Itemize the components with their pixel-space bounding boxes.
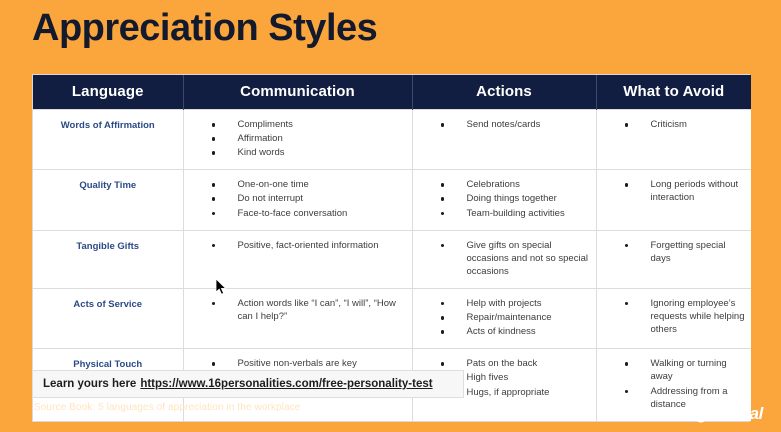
cell-actions: Send notes/cards	[412, 110, 596, 170]
cell-communication: Compliments Affirmation Kind words	[183, 110, 412, 170]
language-label: Physical Touch	[73, 359, 142, 370]
list-item: Compliments	[212, 118, 406, 131]
list-item: Affirmation	[212, 132, 406, 145]
language-label: Quality Time	[79, 180, 136, 191]
bullet-list: Criticism	[603, 118, 746, 131]
cell-actions: Celebrations Doing things together Team-…	[412, 170, 596, 230]
bullet-list: Give gifts on special occasions and not …	[419, 239, 590, 278]
row-language-acts-of-service: Acts of Service	[33, 288, 183, 348]
page-title: Appreciation Styles	[32, 8, 377, 50]
cell-communication: Action words like “I can”, “I will”, “Ho…	[183, 288, 412, 348]
list-item: One-on-one time	[212, 178, 406, 191]
table-row: Words of Affirmation Compliments Affirma…	[33, 110, 751, 170]
bullet-list: One-on-one time Do not interrupt Face-to…	[190, 178, 406, 219]
bullet-list: Send notes/cards	[419, 118, 590, 131]
column-header-actions: Actions	[412, 75, 596, 110]
list-item: Ignoring employee’s requests while helpi…	[625, 297, 746, 336]
row-language-quality-time: Quality Time	[33, 170, 183, 230]
column-header-language: Language	[33, 75, 183, 110]
list-item: Do not interrupt	[212, 192, 406, 205]
table-row: Quality Time One-on-one time Do not inte…	[33, 170, 751, 230]
source-note: Source Book: 5 languages of appreciation…	[34, 402, 300, 413]
row-language-words-of-affirmation: Words of Affirmation	[33, 110, 183, 170]
bullet-list: Positive, fact-oriented information	[190, 239, 406, 252]
column-header-what-to-avoid: What to Avoid	[596, 75, 751, 110]
list-item: Walking or turning away	[625, 357, 746, 383]
bullet-list: Ignoring employee’s requests while helpi…	[603, 297, 746, 336]
bullet-list: Forgetting special days	[603, 239, 746, 265]
learn-more-bar: Learn yours here https://www.16personali…	[32, 370, 464, 398]
personality-test-link[interactable]: https://www.16personalities.com/free-per…	[140, 378, 432, 390]
list-item: Celebrations	[441, 178, 590, 191]
list-item: Long periods without interaction	[625, 178, 746, 204]
list-item: Send notes/cards	[441, 118, 590, 131]
column-header-communication: Communication	[183, 75, 412, 110]
table-row: Acts of Service Action words like “I can…	[33, 288, 751, 348]
bullet-list: Celebrations Doing things together Team-…	[419, 178, 590, 219]
language-label: Acts of Service	[73, 299, 142, 310]
cell-communication: Positive, fact-oriented information	[183, 230, 412, 288]
list-item: Acts of kindness	[441, 325, 590, 338]
bullet-list: Long periods without interaction	[603, 178, 746, 204]
bullet-list: Walking or turning away Addressing from …	[603, 357, 746, 410]
row-language-tangible-gifts: Tangible Gifts	[33, 230, 183, 288]
list-item: Give gifts on special occasions and not …	[441, 239, 590, 278]
list-item: Help with projects	[441, 297, 590, 310]
list-item: Forgetting special days	[625, 239, 746, 265]
cell-actions: Help with projects Repair/maintenance Ac…	[412, 288, 596, 348]
cell-communication: One-on-one time Do not interrupt Face-to…	[183, 170, 412, 230]
list-item: Criticism	[625, 118, 746, 131]
language-label: Words of Affirmation	[61, 120, 155, 131]
list-item: Action words like “I can”, “I will”, “Ho…	[212, 297, 406, 323]
ringcentral-logo: RingCentral	[671, 404, 763, 424]
list-item: Kind words	[212, 146, 406, 159]
cell-what-to-avoid: Criticism	[596, 110, 751, 170]
cell-what-to-avoid: Long periods without interaction	[596, 170, 751, 230]
list-item: Positive non-verbals are key	[212, 357, 406, 370]
learn-label: Learn yours here	[43, 378, 136, 390]
table-row: Tangible Gifts Positive, fact-oriented i…	[33, 230, 751, 288]
list-item: Team-building activities	[441, 207, 590, 220]
list-item: Doing things together	[441, 192, 590, 205]
bullet-list: Help with projects Repair/maintenance Ac…	[419, 297, 590, 338]
list-item: Positive, fact-oriented information	[212, 239, 406, 252]
cell-what-to-avoid: Forgetting special days	[596, 230, 751, 288]
bullet-list: Compliments Affirmation Kind words	[190, 118, 406, 159]
bullet-list: Action words like “I can”, “I will”, “Ho…	[190, 297, 406, 323]
list-item: Repair/maintenance	[441, 311, 590, 324]
list-item: Face-to-face conversation	[212, 207, 406, 220]
table-header-row: Language Communication Actions What to A…	[33, 75, 751, 110]
cell-actions: Give gifts on special occasions and not …	[412, 230, 596, 288]
list-item: Pats on the back	[441, 357, 590, 370]
language-label: Tangible Gifts	[76, 241, 139, 252]
cell-what-to-avoid: Ignoring employee’s requests while helpi…	[596, 288, 751, 348]
